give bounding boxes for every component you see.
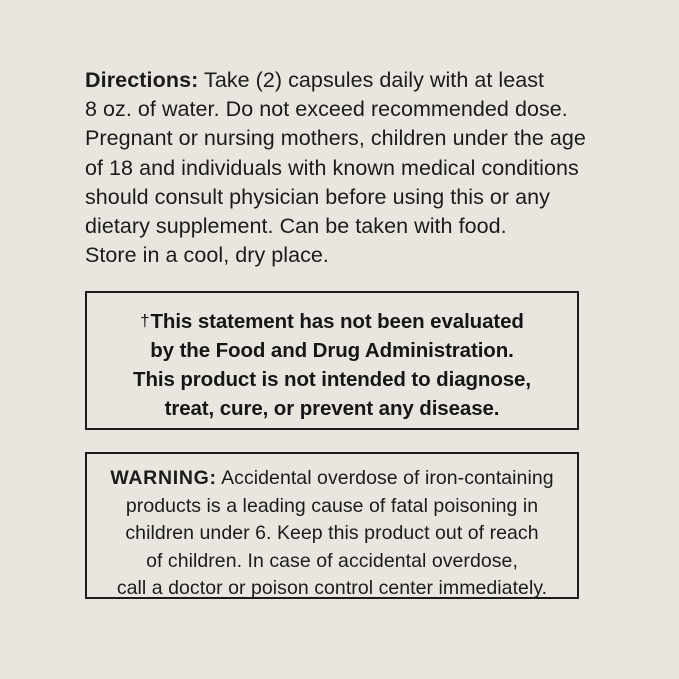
fda-line: treat, cure, or prevent any disease. — [165, 397, 500, 420]
directions-line: Take (2) capsules daily with at least — [198, 68, 544, 92]
directions-heading: Directions: — [85, 68, 198, 92]
fda-line: This product is not intended to diagnose… — [133, 368, 531, 391]
warning-line: of children. In case of accidental overd… — [146, 550, 518, 572]
fda-disclaimer-box: †This statement has not been evaluated b… — [85, 291, 579, 430]
directions-line: Pregnant or nursing mothers, children un… — [85, 126, 586, 150]
directions-line: 8 oz. of water. Do not exceed recommende… — [85, 97, 568, 121]
directions-block: Directions: Take (2) capsules daily with… — [85, 66, 605, 270]
fda-disclaimer-text: †This statement has not been evaluated b… — [87, 306, 577, 423]
warning-line: Accidental overdose of iron-containing — [217, 467, 554, 489]
warning-text: WARNING: Accidental overdose of iron-con… — [87, 465, 577, 603]
warning-line: children under 6. Keep this product out … — [125, 522, 538, 544]
directions-line: should consult physician before using th… — [85, 185, 550, 209]
warning-heading: WARNING: — [110, 467, 216, 489]
directions-line: dietary supplement. Can be taken with fo… — [85, 214, 507, 238]
supplement-label-panel: Directions: Take (2) capsules daily with… — [0, 0, 679, 679]
directions-line: of 18 and individuals with known medical… — [85, 156, 579, 180]
warning-line: products is a leading cause of fatal poi… — [126, 495, 538, 517]
warning-line: call a doctor or poison control center i… — [117, 577, 547, 599]
directions-line: Store in a cool, dry place. — [85, 243, 329, 267]
fda-line: by the Food and Drug Administration. — [150, 339, 514, 362]
fda-line: This statement has not been evaluated — [150, 310, 523, 333]
warning-box: WARNING: Accidental overdose of iron-con… — [85, 452, 579, 599]
dagger-icon: † — [140, 311, 150, 330]
